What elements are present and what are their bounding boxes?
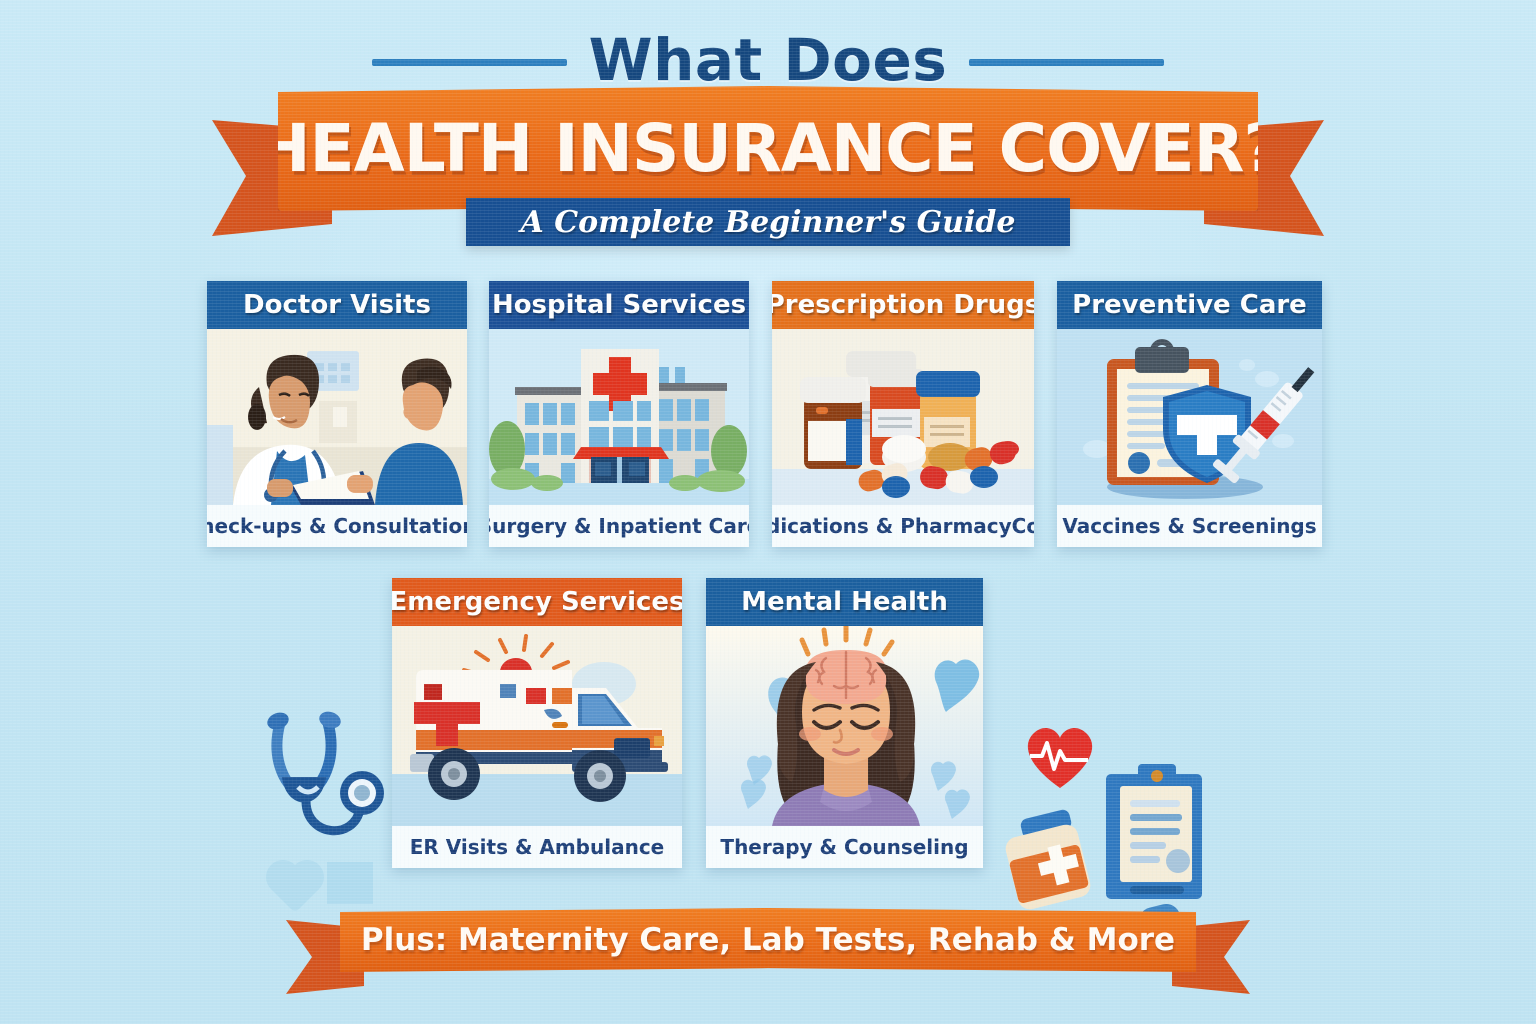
- title-kicker: What Does: [589, 26, 948, 94]
- subtitle-text: A Complete Beginner's Guide: [521, 205, 1016, 240]
- hospital-building-illustration: [489, 329, 749, 505]
- card-header-label: Preventive Care: [1072, 290, 1307, 320]
- square-shape: [327, 862, 373, 904]
- card-mental-health[interactable]: Mental Health: [706, 578, 983, 868]
- card-caption-label: Medications & PharmacyCosts: [772, 514, 1034, 538]
- card-header-label: Emergency Services: [392, 587, 682, 617]
- footer-ribbon-body: Plus: Maternity Care, Lab Tests, Rehab &…: [340, 908, 1196, 972]
- card-header: Doctor Visits: [207, 281, 467, 329]
- card-header-label: Doctor Visits: [243, 290, 431, 320]
- main-title: HEALTH INSURANCE COVER?: [255, 110, 1280, 187]
- card-caption-label: Vaccines & Screenings: [1062, 514, 1316, 538]
- card-caption: Vaccines & Screenings: [1057, 505, 1322, 547]
- card-caption-label: ER Visits & Ambulance: [410, 835, 664, 859]
- card-caption: Surgery & Inpatient Care: [489, 505, 749, 547]
- card-emergency-services[interactable]: Emergency Services: [392, 578, 682, 868]
- clipboard-icon: [1098, 764, 1213, 909]
- card-header-label: Prescription Drugs: [772, 290, 1034, 320]
- card-caption-label: Surgery & Inpatient Care: [489, 514, 749, 538]
- card-caption: Medications & PharmacyCosts: [772, 505, 1034, 547]
- title-rule-left-icon: [372, 59, 567, 66]
- doctor-patient-consultation-illustration: [207, 329, 467, 505]
- card-header: Prescription Drugs: [772, 281, 1034, 329]
- woman-with-brain-and-hearts-illustration: [706, 626, 983, 826]
- ribbon-body: HEALTH INSURANCE COVER?: [278, 86, 1258, 211]
- card-preventive-care[interactable]: Preventive Care: [1057, 281, 1322, 547]
- pill-bottles-and-capsules-illustration: [772, 329, 1034, 505]
- card-header: Emergency Services: [392, 578, 682, 626]
- card-header-label: Mental Health: [741, 587, 948, 617]
- card-hospital-services[interactable]: Hospital Services: [489, 281, 749, 547]
- card-header: Mental Health: [706, 578, 983, 626]
- clipboard-shield-syringe-illustration: [1057, 329, 1322, 505]
- card-doctor-visits[interactable]: Doctor Visits: [207, 281, 467, 547]
- card-prescription-drugs[interactable]: Prescription Drugs: [772, 281, 1034, 547]
- heartbeat-heart-icon: [1020, 722, 1100, 792]
- subtitle-bar: A Complete Beginner's Guide: [466, 198, 1070, 246]
- footer-banner-text: Plus: Maternity Care, Lab Tests, Rehab &…: [361, 922, 1175, 958]
- card-caption-label: Therapy & Counseling: [720, 835, 968, 859]
- card-header: Hospital Services: [489, 281, 749, 329]
- card-header: Preventive Care: [1057, 281, 1322, 329]
- card-caption-label: Check-ups & Consultations: [207, 514, 467, 538]
- card-caption: Therapy & Counseling: [706, 826, 983, 868]
- title-rule-right-icon: [969, 59, 1164, 66]
- footer-ribbon: Plus: Maternity Care, Lab Tests, Rehab &…: [0, 902, 1536, 998]
- card-caption: ER Visits & Ambulance: [392, 826, 682, 868]
- stethoscope-icon: [250, 705, 400, 865]
- infographic-canvas: What Does HEALTH INSURANCE COVER? A Comp…: [0, 0, 1536, 1024]
- card-caption: Check-ups & Consultations: [207, 505, 467, 547]
- card-header-label: Hospital Services: [492, 290, 746, 320]
- ambulance-illustration: [392, 626, 682, 826]
